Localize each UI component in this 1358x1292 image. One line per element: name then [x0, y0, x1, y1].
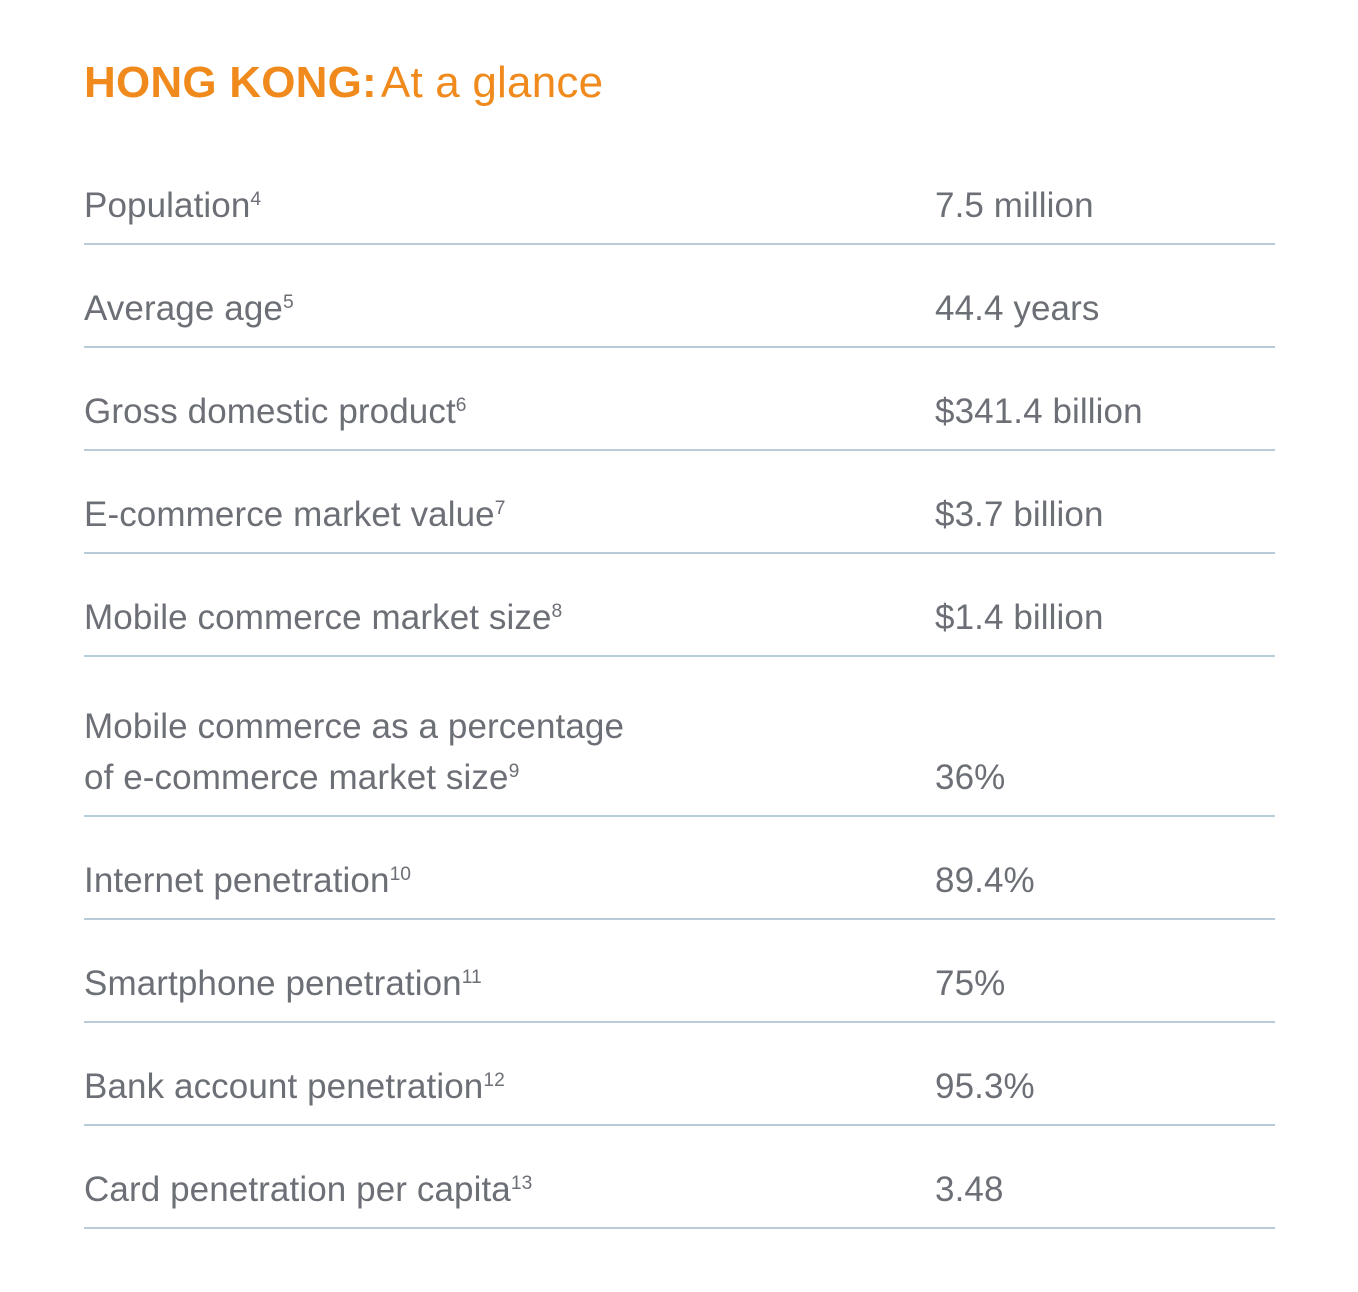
page-title-country: HONG KONG:	[84, 58, 377, 107]
page-title: HONG KONG:At a glance	[84, 57, 603, 109]
row-label-population: Population4	[84, 180, 935, 231]
footnote-marker: 13	[511, 1173, 532, 1194]
footnote-marker: 12	[483, 1070, 504, 1091]
row-label-ecommerce-market-value: E-commerce market value7	[84, 489, 935, 540]
table-row: Smartphone penetration11 75%	[84, 920, 1275, 1023]
footnote-marker: 9	[509, 761, 520, 782]
table-row: E-commerce market value7 $3.7 billion	[84, 451, 1275, 554]
row-value-smartphone-penetration: 75%	[935, 958, 1275, 1009]
table-row: Gross domestic product6 $341.4 billion	[84, 348, 1275, 451]
row-value-gross-domestic-product: $341.4 billion	[935, 386, 1275, 437]
row-value-ecommerce-market-value: $3.7 billion	[935, 489, 1275, 540]
table-row: Mobile commerce market size8 $1.4 billio…	[84, 554, 1275, 657]
row-label-text: Population	[84, 186, 250, 225]
row-label-gross-domestic-product: Gross domestic product6	[84, 386, 935, 437]
footnote-marker: 8	[552, 601, 563, 622]
table-row: Average age5 44.4 years	[84, 245, 1275, 348]
row-label-text: Gross domestic product	[84, 392, 456, 431]
row-value-bank-account-penetration: 95.3%	[935, 1061, 1275, 1112]
table-row: Card penetration per capita13 3.48	[84, 1126, 1275, 1229]
footnote-marker: 4	[250, 189, 261, 210]
row-label-mobile-commerce-market-size: Mobile commerce market size8	[84, 592, 935, 643]
row-label-text: Average age	[84, 289, 283, 328]
row-label-card-penetration-per-capita: Card penetration per capita13	[84, 1164, 935, 1215]
footnote-marker: 11	[462, 967, 482, 988]
row-label-mobile-commerce-percentage: Mobile commerce as a percentageof e-comm…	[84, 701, 935, 803]
table-row: Population4 7.5 million	[84, 152, 1275, 245]
row-label-internet-penetration: Internet penetration10	[84, 855, 935, 906]
row-label-text-line1: Mobile commerce as a percentage	[84, 707, 624, 746]
row-label-smartphone-penetration: Smartphone penetration11	[84, 958, 935, 1009]
page-title-subtitle: At a glance	[381, 58, 603, 107]
row-label-text: Card penetration per capita	[84, 1170, 511, 1209]
row-label-average-age: Average age5	[84, 283, 935, 334]
footnote-marker: 10	[390, 864, 411, 885]
row-value-internet-penetration: 89.4%	[935, 855, 1275, 906]
row-value-average-age: 44.4 years	[935, 283, 1275, 334]
row-label-text: E-commerce market value	[84, 495, 495, 534]
statistics-table: Population4 7.5 million Average age5 44.…	[84, 152, 1275, 1229]
footnote-marker: 7	[495, 498, 506, 519]
at-a-glance-page: HONG KONG:At a glance Population4 7.5 mi…	[0, 0, 1358, 1292]
row-value-card-penetration-per-capita: 3.48	[935, 1164, 1275, 1215]
row-label-text: Smartphone penetration	[84, 964, 462, 1003]
table-row: Internet penetration10 89.4%	[84, 817, 1275, 920]
row-value-mobile-commerce-percentage: 36%	[935, 752, 1275, 803]
footnote-marker: 6	[456, 395, 467, 416]
row-label-text: Bank account penetration	[84, 1067, 483, 1106]
row-value-mobile-commerce-market-size: $1.4 billion	[935, 592, 1275, 643]
row-label-bank-account-penetration: Bank account penetration12	[84, 1061, 935, 1112]
row-label-text: Internet penetration	[84, 861, 390, 900]
table-row: Mobile commerce as a percentageof e-comm…	[84, 657, 1275, 817]
footnote-marker: 5	[283, 292, 294, 313]
table-row: Bank account penetration12 95.3%	[84, 1023, 1275, 1126]
row-value-population: 7.5 million	[935, 180, 1275, 231]
row-label-text: Mobile commerce market size	[84, 598, 552, 637]
row-label-text-line2: of e-commerce market size	[84, 758, 509, 797]
